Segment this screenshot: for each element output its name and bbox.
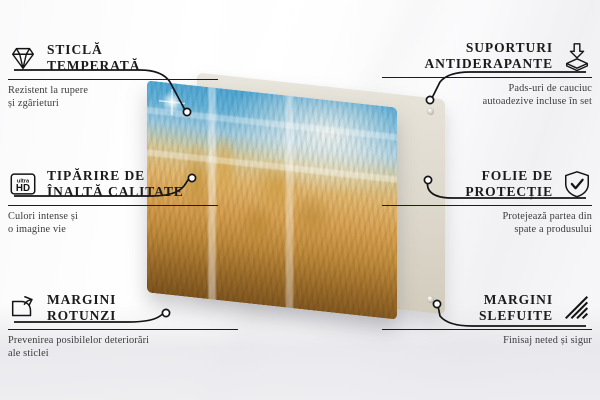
feature-suporturi-antiderapante: SUPORTURI ANTIDERAPANTE Pads-uri de cauc… [382, 40, 592, 109]
feature-subtitle: Culori intense și o imagine vie [8, 210, 218, 237]
feature-title-line1: SUPORTURI [425, 40, 553, 56]
feature-header: ultra HD TIPĂRIRE DE ÎNALTĂ CALITATE [8, 168, 218, 200]
ultra-hd-icon: ultra HD [8, 169, 38, 199]
feature-title: MARGINI ROTUNZI [47, 292, 116, 324]
feature-title: MARGINI SLEFUITE [479, 292, 553, 324]
feature-title-line1: MARGINI [479, 292, 553, 308]
diamond-icon [8, 43, 38, 73]
feature-title: TIPĂRIRE DE ÎNALTĂ CALITATE [47, 168, 184, 200]
feature-header: MARGINI SLEFUITE [382, 292, 592, 324]
feature-subtitle-line1: Protejează partea din [382, 210, 592, 223]
feature-title: STICLĂ TEMPERATĂ [47, 42, 140, 74]
feature-tiparire-inalta-calitate: ultra HD TIPĂRIRE DE ÎNALTĂ CALITATE Cul… [8, 168, 218, 237]
press-pads-icon [562, 41, 592, 71]
feature-title-line2: ANTIDERAPANTE [425, 56, 553, 72]
feature-subtitle: Protejează partea din spate a produsului [382, 210, 592, 237]
rounded-corner-icon [8, 293, 38, 323]
feature-subtitle-line2: autoadezive incluse în set [382, 95, 592, 108]
feature-margini-rotunzi: MARGINI ROTUNZI Prevenirea posibilelor d… [8, 292, 238, 361]
feature-title-line2: TEMPERATĂ [47, 58, 140, 74]
feature-divider [382, 205, 592, 206]
infographic-canvas: STICLĂ TEMPERATĂ Rezistent la rupere și … [0, 0, 600, 400]
feature-subtitle-line2: o imagine vie [8, 223, 218, 236]
feature-header: MARGINI ROTUNZI [8, 292, 238, 324]
feature-title-line1: STICLĂ [47, 42, 140, 58]
feature-divider [382, 329, 592, 330]
feature-divider [8, 205, 218, 206]
feature-subtitle-line1: Pads-uri de cauciuc [382, 82, 592, 95]
feature-title: FOLIE DE PROTECȚIE [465, 168, 553, 200]
feature-margini-slefuite: MARGINI SLEFUITE Finisaj neted și sigur [382, 292, 592, 347]
backing-screw-top [427, 108, 434, 116]
feature-title-line1: MARGINI [47, 292, 116, 308]
ultra-hd-large-label: HD [16, 183, 30, 194]
feature-title-line2: ROTUNZI [47, 308, 116, 324]
feature-subtitle-line2: ale sticlei [8, 347, 238, 360]
hatch-lines-icon [562, 293, 592, 323]
feature-subtitle-line1: Finisaj neted și sigur [382, 334, 592, 347]
feature-divider [382, 77, 592, 78]
feature-title-line2: ÎNALTĂ CALITATE [47, 184, 184, 200]
feature-divider [8, 79, 218, 80]
feature-header: FOLIE DE PROTECȚIE [382, 168, 592, 200]
feature-subtitle: Prevenirea posibilelor deteriorări ale s… [8, 334, 238, 361]
feature-subtitle-line1: Rezistent la rupere [8, 84, 218, 97]
feature-sticla-temperata: STICLĂ TEMPERATĂ Rezistent la rupere și … [8, 42, 218, 111]
feature-title-line2: PROTECȚIE [465, 184, 553, 200]
feature-subtitle: Finisaj neted și sigur [382, 334, 592, 347]
feature-title: SUPORTURI ANTIDERAPANTE [425, 40, 553, 72]
feature-header: SUPORTURI ANTIDERAPANTE [382, 40, 592, 72]
feature-header: STICLĂ TEMPERATĂ [8, 42, 218, 74]
feature-subtitle: Rezistent la rupere și zgârieturi [8, 84, 218, 111]
feature-title-line1: TIPĂRIRE DE [47, 168, 184, 184]
feature-subtitle-line2: spate a produsului [382, 223, 592, 236]
shield-check-icon [562, 169, 592, 199]
feature-title-line1: FOLIE DE [465, 168, 553, 184]
feature-subtitle: Pads-uri de cauciuc autoadezive incluse … [382, 82, 592, 109]
feature-subtitle-line1: Culori intense și [8, 210, 218, 223]
feature-subtitle-line2: și zgârieturi [8, 97, 218, 110]
feature-subtitle-line1: Prevenirea posibilelor deteriorări [8, 334, 238, 347]
feature-divider [8, 329, 238, 330]
feature-title-line2: SLEFUITE [479, 308, 553, 324]
feature-folie-de-protectie: FOLIE DE PROTECȚIE Protejează partea din… [382, 168, 592, 237]
